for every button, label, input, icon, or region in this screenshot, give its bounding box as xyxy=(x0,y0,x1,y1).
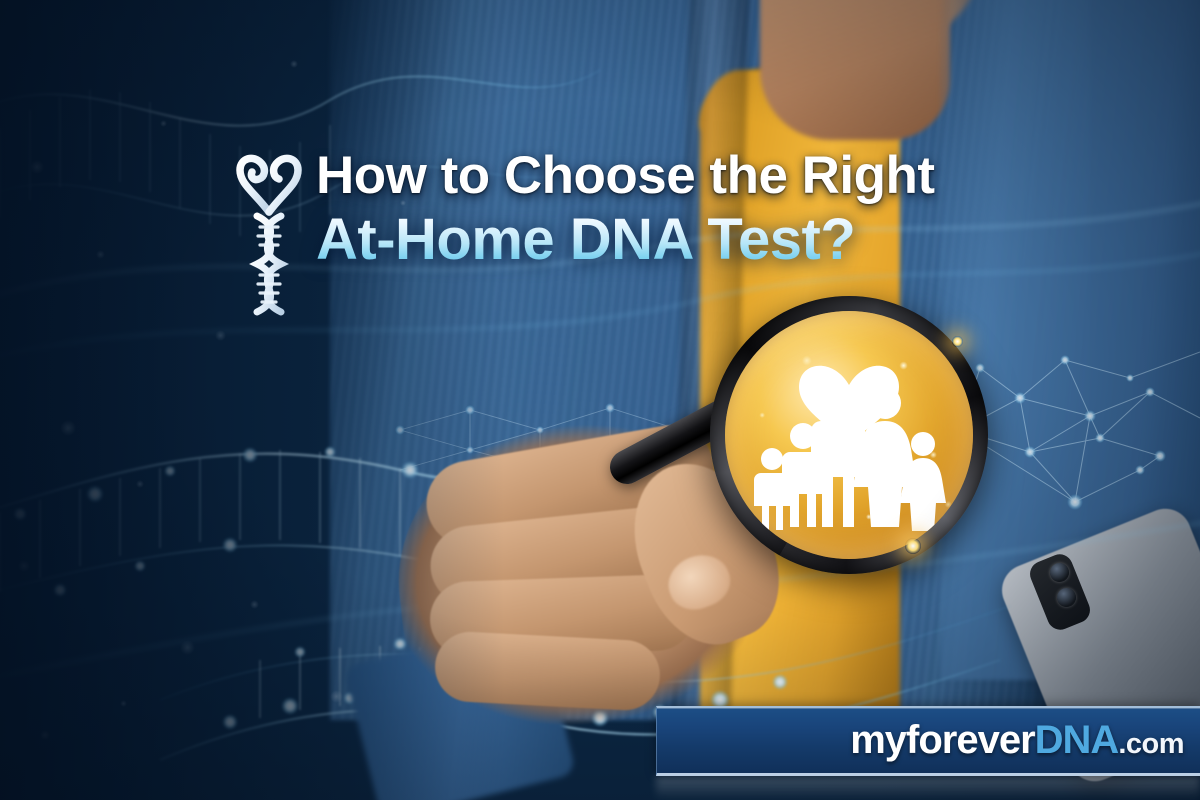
logo-bar-sheen xyxy=(656,776,1200,800)
brand-logo-bar[interactable]: myforeverDNA.com xyxy=(656,706,1200,776)
brand-part-dna: DNA xyxy=(1035,718,1119,762)
headline-line-1: How to Choose the Right xyxy=(316,148,966,203)
dna-heart-helix-icon xyxy=(232,150,306,320)
headline-line-2: At-Home DNA Test? xyxy=(316,209,966,270)
brand-part-forever: forever xyxy=(906,718,1035,762)
vignette-overlay xyxy=(0,0,1200,800)
brand-part-com: .com xyxy=(1118,728,1184,760)
headline: How to Choose the Right At-Home DNA Test… xyxy=(316,148,966,271)
brand-part-my: my xyxy=(850,718,906,762)
title-block: How to Choose the Right At-Home DNA Test… xyxy=(232,148,972,308)
dna-test-banner: How to Choose the Right At-Home DNA Test… xyxy=(0,0,1200,800)
brand-logo-text[interactable]: myforeverDNA.com xyxy=(850,718,1184,763)
